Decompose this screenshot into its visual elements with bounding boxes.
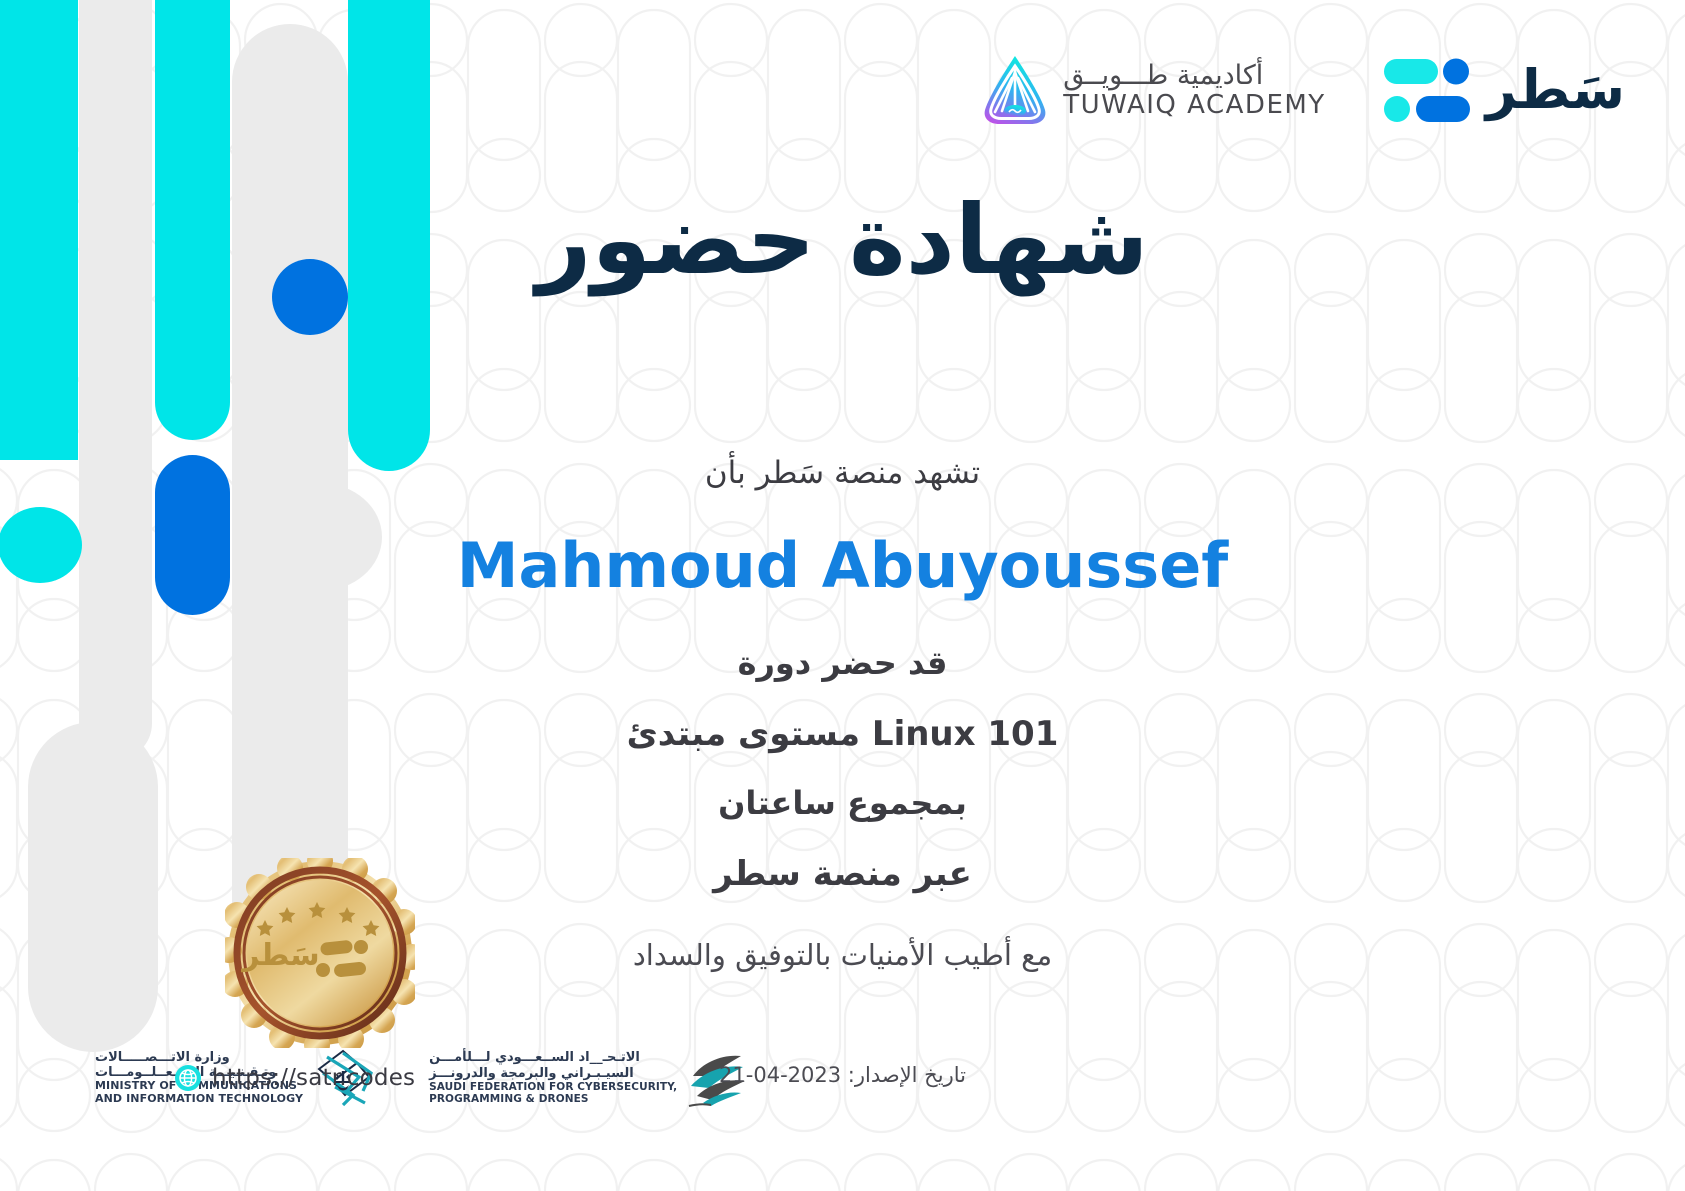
satr-dots-logo-icon (1384, 57, 1470, 123)
globe-icon (175, 1065, 201, 1091)
tuwaiq-name-arabic: أكاديمية طـــويــق (1063, 61, 1263, 90)
certificate-header: سَطر أكاديمية طـــويــق TUWAIQ ACADEMY (979, 52, 1625, 128)
tuwaiq-name-block: أكاديمية طـــويــق TUWAIQ ACADEMY (1063, 61, 1325, 118)
website-link[interactable]: https://satr.codes (175, 1065, 415, 1091)
satr-wordmark: سَطر (1486, 63, 1625, 117)
certificate-title: شهادة حضور (0, 188, 1685, 294)
tuwaiq-name-english: TUWAIQ ACADEMY (1063, 91, 1325, 119)
satr-brand-lockup: سَطر (1384, 57, 1625, 123)
partner-name-en-line2: AND INFORMATION TECHNOLOGY (95, 1093, 303, 1106)
partner-name-en-line2: PROGRAMMING & DRONES (429, 1093, 588, 1105)
certificate-page: سَطر أكاديمية طـــويــق TUWAIQ ACADEMY (0, 0, 1685, 1191)
website-url-text: https://satr.codes (212, 1065, 415, 1091)
intro-line: تشهد منصة سَطر بأن (0, 455, 1685, 491)
recipient-name: Mahmoud Abuyoussef (0, 529, 1685, 602)
tuwaiq-brand-lockup: أكاديمية طـــويــق TUWAIQ ACADEMY (979, 52, 1325, 128)
course-name: Linux 101 مستوى مبتدئ (0, 714, 1685, 754)
seal-wordmark: سَطر (240, 938, 319, 973)
attended-label: قد حضر دورة (0, 644, 1685, 682)
tuwaiq-shield-emblem-icon (979, 52, 1051, 128)
course-hours: بمجموع ساعتان (0, 784, 1685, 822)
gold-award-seal-icon: سَطر (225, 858, 415, 1048)
